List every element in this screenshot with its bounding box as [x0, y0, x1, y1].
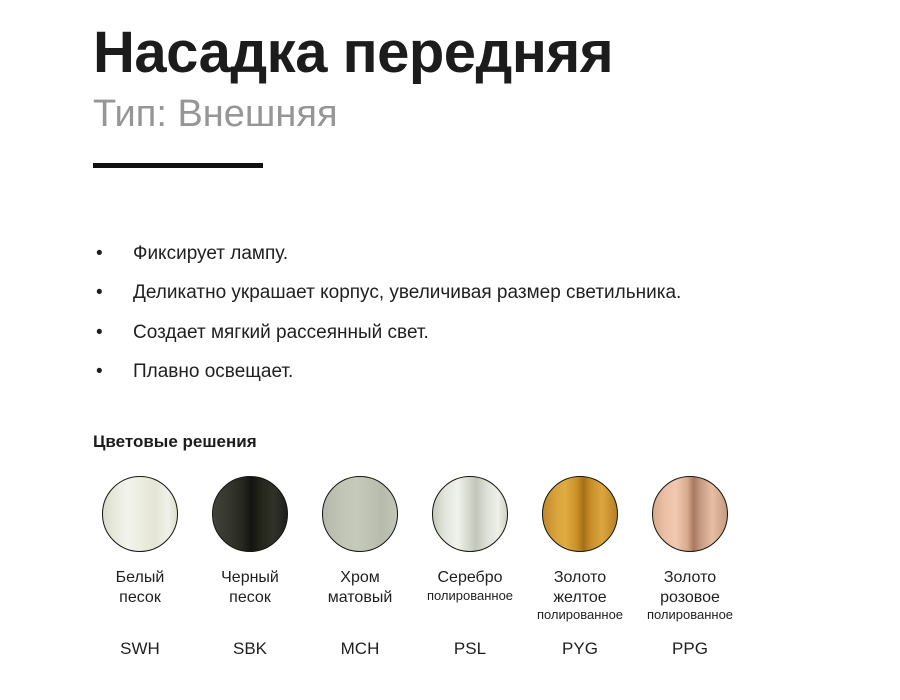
color-swatch-label: Черный песок — [196, 568, 304, 607]
color-finish: полированное — [636, 607, 744, 623]
color-name-line1: Золото — [554, 569, 606, 586]
list-item: • Фиксирует лампу. — [93, 241, 863, 266]
feature-list: • Фиксирует лампу. • Деликатно украшает … — [93, 241, 863, 399]
color-option-sbk[interactable]: Черный песок SBK — [195, 476, 305, 623]
color-code: PPG — [635, 640, 745, 657]
feature-text: Создает мягкий рассеянный свет. — [133, 320, 863, 345]
color-name-line1: Золото — [664, 569, 716, 586]
feature-text: Деликатно украшает корпус, увеличивая ра… — [133, 280, 863, 305]
color-swatch-label: Золото желтое полированное — [526, 568, 634, 623]
color-code: SBK — [195, 640, 305, 657]
list-item: • Плавно освещает. — [93, 359, 863, 384]
page-subtitle: Тип: Внешняя — [93, 94, 853, 136]
color-code: SWH — [85, 640, 195, 657]
color-option-swh[interactable]: Белый песок SWH — [85, 476, 195, 623]
color-name-line1: Хром — [340, 569, 379, 586]
color-name-line2: песок — [119, 589, 161, 606]
color-swatch-label: Белый песок — [86, 568, 194, 607]
color-name-line1: Черный — [221, 569, 279, 586]
feature-text: Фиксирует лампу. — [133, 241, 863, 266]
title-divider — [93, 163, 263, 168]
color-name-line2: песок — [229, 589, 271, 606]
product-slide: Насадка передняя Тип: Внешняя • Фиксируе… — [0, 0, 900, 700]
color-option-psl[interactable]: Серебро полированное PSL — [415, 476, 525, 623]
color-swatch-circle[interactable] — [322, 476, 398, 552]
bullet-icon: • — [93, 280, 133, 305]
color-name-line2: розовое — [660, 589, 720, 606]
bullet-icon: • — [93, 320, 133, 345]
color-finish: полированное — [416, 588, 524, 604]
list-item: • Деликатно украшает корпус, увеличивая … — [93, 280, 863, 305]
color-code: PYG — [525, 640, 635, 657]
color-swatch-row: Белый песок SWH Черный песок SBK Хром ма… — [85, 476, 750, 623]
bullet-icon: • — [93, 359, 133, 384]
color-option-pyg[interactable]: Золото желтое полированное PYG — [525, 476, 635, 623]
color-name-line1: Серебро — [437, 569, 502, 586]
color-finish: полированное — [526, 607, 634, 623]
list-item: • Создает мягкий рассеянный свет. — [93, 320, 863, 345]
color-option-mch[interactable]: Хром матовый MCH — [305, 476, 415, 623]
color-swatch-label: Серебро полированное — [416, 568, 524, 603]
colors-section-heading: Цветовые решения — [93, 432, 257, 452]
color-swatch-label: Хром матовый — [306, 568, 414, 607]
color-code: PSL — [415, 640, 525, 657]
bullet-icon: • — [93, 241, 133, 266]
color-name-line1: Белый — [116, 569, 165, 586]
color-swatch-circle[interactable] — [102, 476, 178, 552]
color-swatch-label: Золото розовое полированное — [636, 568, 744, 623]
color-name-line2: желтое — [553, 589, 606, 606]
feature-text: Плавно освещает. — [133, 359, 863, 384]
color-option-ppg[interactable]: Золото розовое полированное PPG — [635, 476, 745, 623]
color-swatch-circle[interactable] — [542, 476, 618, 552]
color-swatch-circle[interactable] — [652, 476, 728, 552]
page-title: Насадка передняя — [93, 22, 853, 83]
color-name-line2: матовый — [328, 589, 393, 606]
color-swatch-circle[interactable] — [212, 476, 288, 552]
color-code: MCH — [305, 640, 415, 657]
color-swatch-circle[interactable] — [432, 476, 508, 552]
slide-header: Насадка передняя Тип: Внешняя — [93, 22, 853, 168]
